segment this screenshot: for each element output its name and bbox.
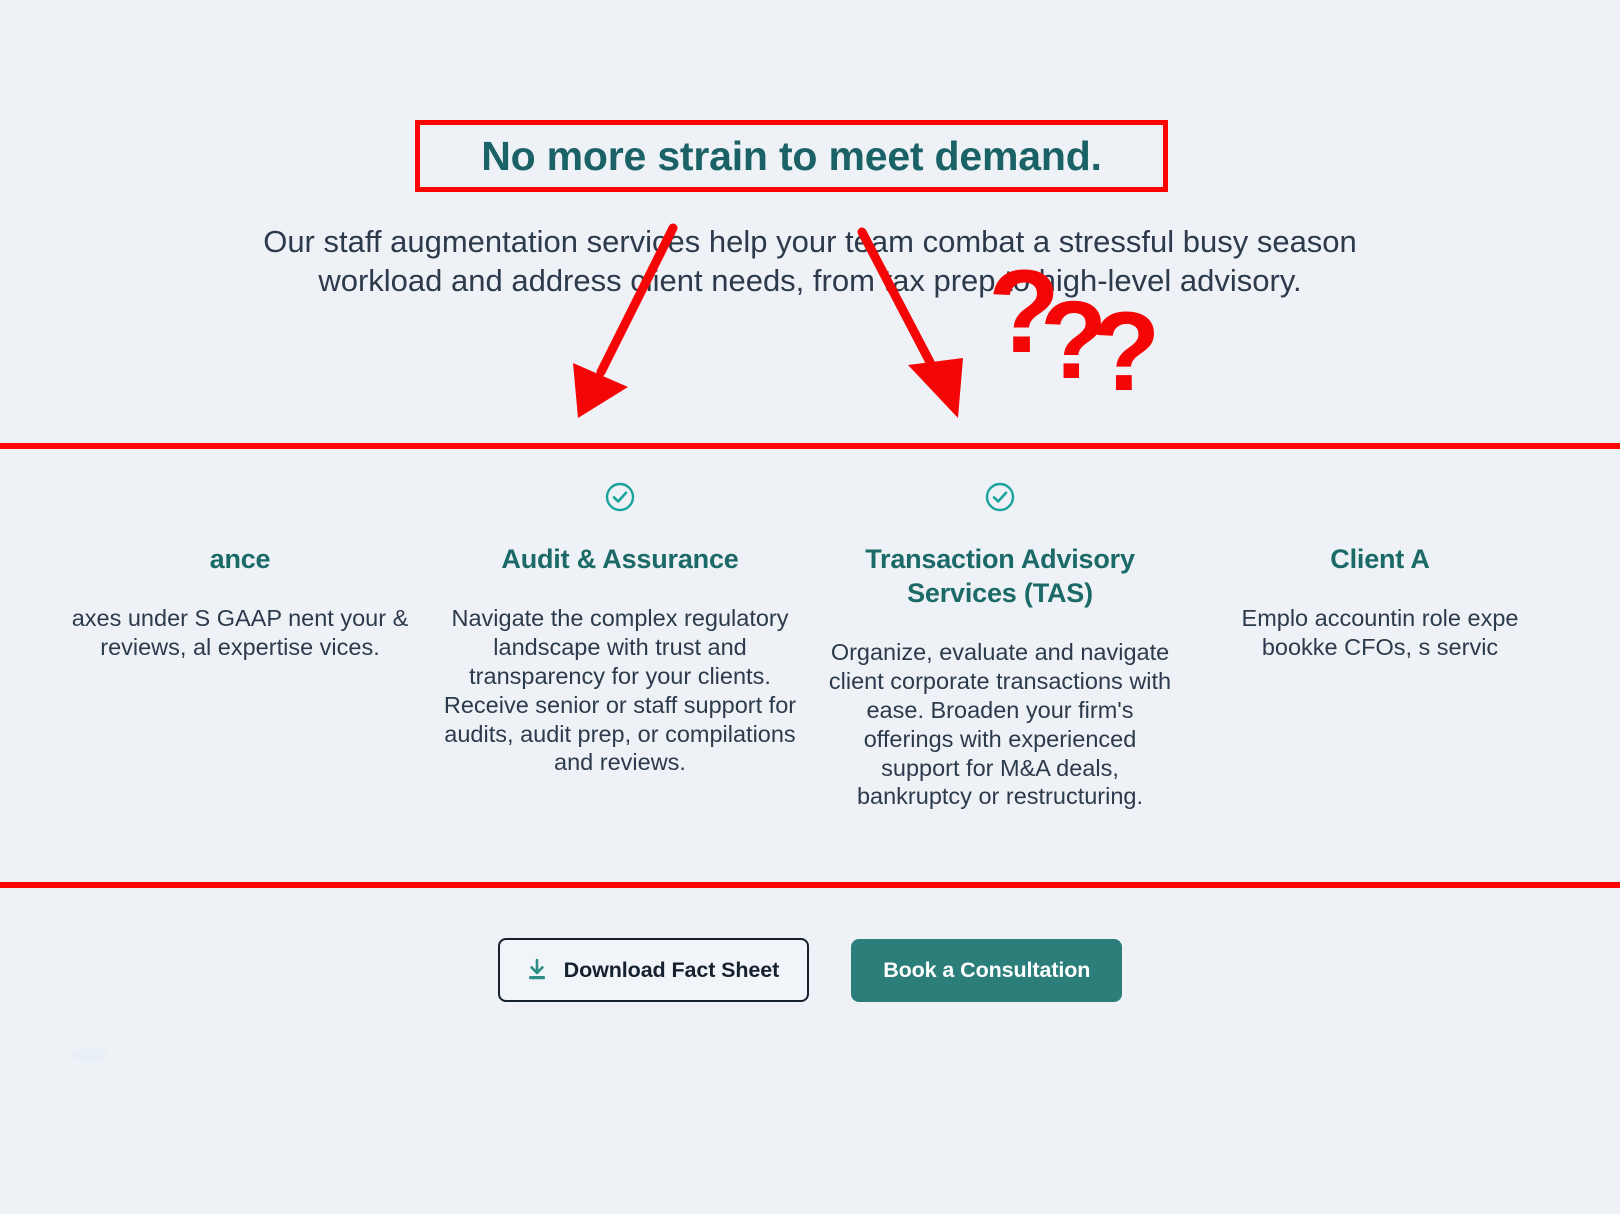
annotation-rule-bottom: [0, 882, 1620, 888]
book-consultation-button[interactable]: Book a Consultation: [851, 939, 1122, 1002]
service-card-title: Client A: [1202, 542, 1558, 576]
cta-button-row: Download Fact Sheet Book a Consultation: [0, 938, 1620, 1002]
download-fact-sheet-button[interactable]: Download Fact Sheet: [498, 938, 810, 1002]
check-circle-icon: [442, 474, 798, 520]
service-card[interactable]: ance axes under S GAAP nent your & revie…: [50, 452, 430, 662]
service-card[interactable]: Client A Emplo accountin role expe bookk…: [1190, 452, 1570, 662]
svg-text:?: ?: [1092, 289, 1160, 414]
service-card[interactable]: Audit & Assurance Navigate the complex r…: [430, 452, 810, 777]
service-card-title: Audit & Assurance: [442, 542, 798, 576]
page-root: No more strain to meet demand. Our staff…: [0, 0, 1620, 1214]
subheading-line-2: workload and address client needs, from …: [110, 261, 1510, 300]
service-card-title: ance: [62, 542, 418, 576]
service-card[interactable]: Transaction Advisory Services (TAS) Orga…: [810, 452, 1190, 811]
service-card-body: Navigate the complex regulatory landscap…: [442, 604, 798, 777]
service-card-body: Emplo accountin role expe bookke CFOs, s…: [1202, 604, 1558, 662]
background-artifact: [72, 1048, 108, 1062]
annotation-rule-top: [0, 443, 1620, 449]
page-title: No more strain to meet demand.: [481, 136, 1102, 177]
download-fact-sheet-label: Download Fact Sheet: [564, 958, 780, 983]
headline-highlight-box: No more strain to meet demand.: [415, 120, 1168, 192]
hero-subheading: Our staff augmentation services help you…: [110, 222, 1510, 301]
subheading-line-1: Our staff augmentation services help you…: [263, 224, 1357, 259]
services-card-strip: ance axes under S GAAP nent your & revie…: [0, 452, 1620, 882]
download-icon: [524, 957, 550, 983]
service-card-body: Organize, evaluate and navigate client c…: [822, 638, 1178, 811]
service-card-body: axes under S GAAP nent your & reviews, a…: [62, 604, 418, 662]
check-circle-icon: [822, 474, 1178, 520]
service-card-title: Transaction Advisory Services (TAS): [822, 542, 1178, 610]
